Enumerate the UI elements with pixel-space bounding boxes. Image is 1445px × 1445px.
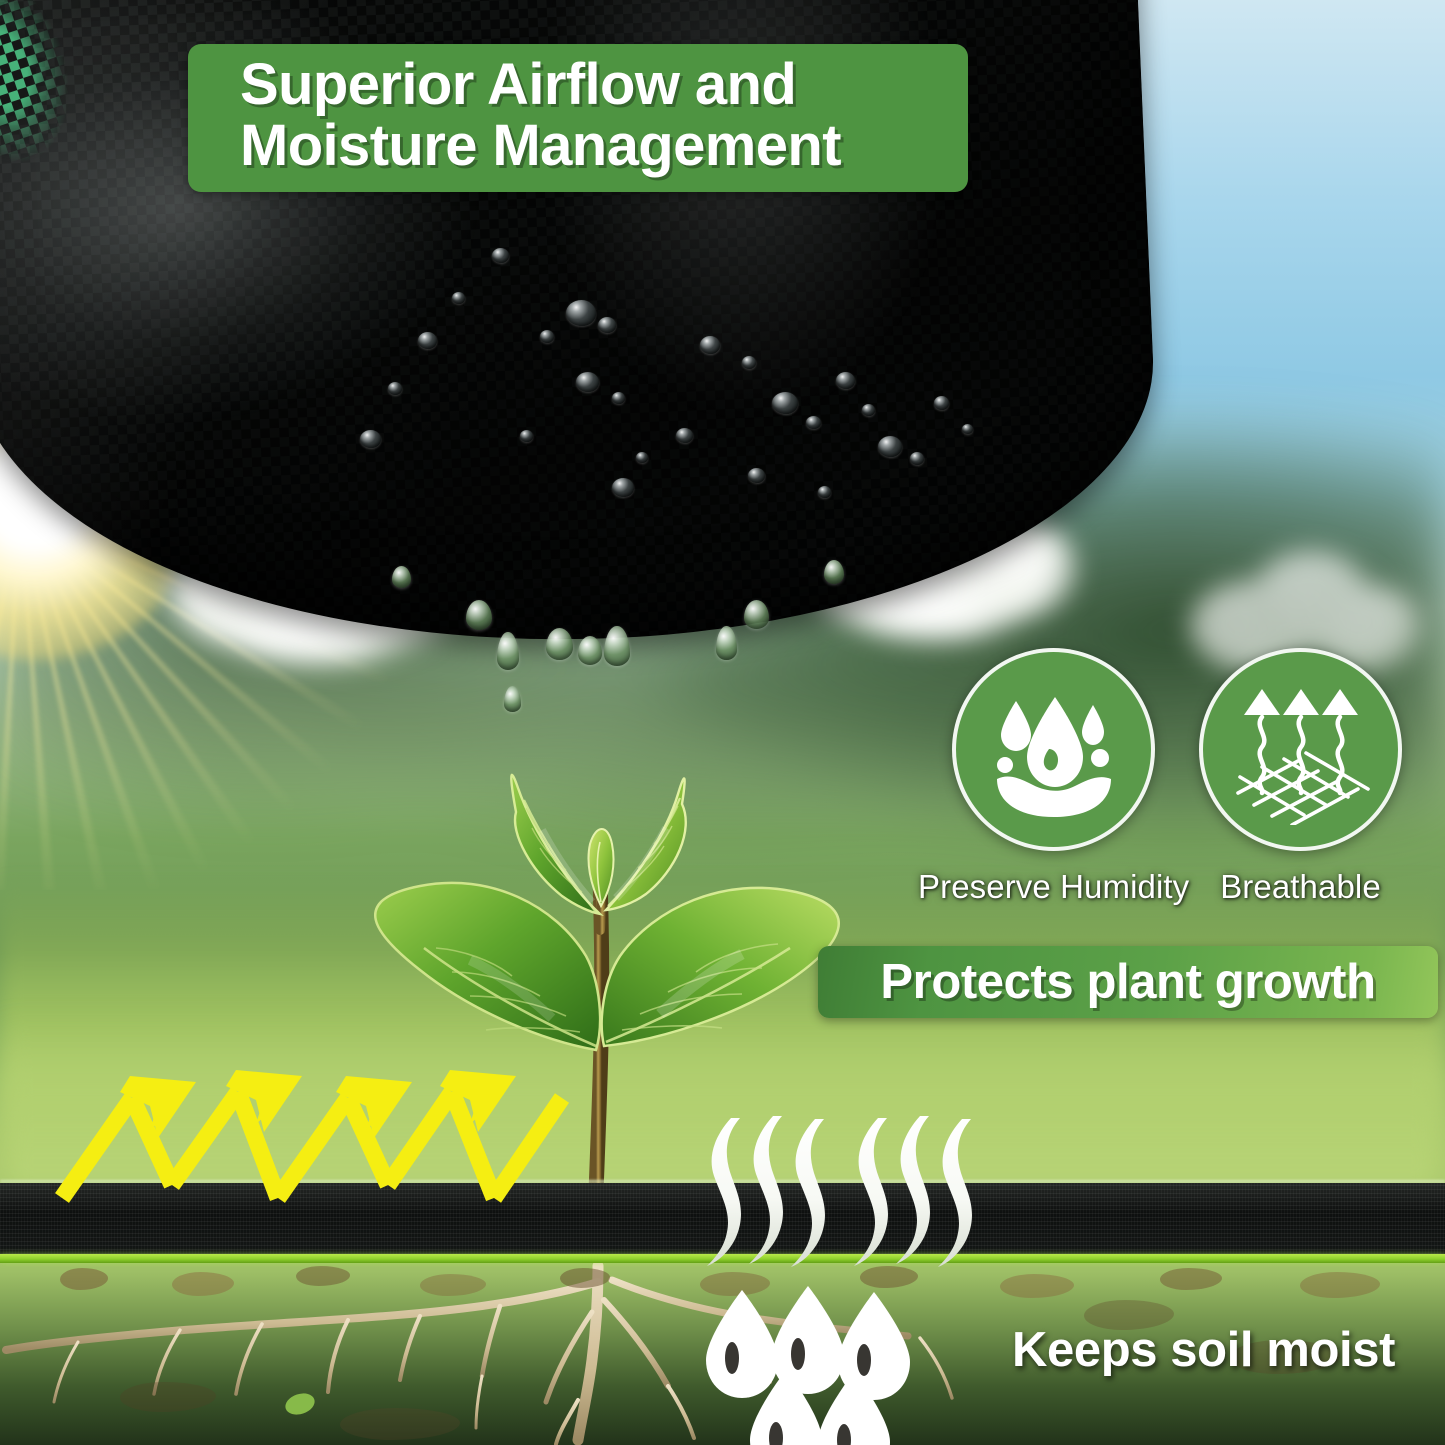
feature-preserve-humidity[interactable]: Preserve Humidity [918,648,1189,906]
feature-label: Breathable [1220,868,1381,906]
droplet-row-top [706,1286,910,1400]
feature-icon-circle [952,648,1155,851]
droplet-icon [706,1290,778,1398]
headline-banner: Superior Airflow and Moisture Management [188,44,968,192]
feature-breathable[interactable]: Breathable [1199,648,1402,906]
product-feature-image: Superior Airflow and Moisture Management… [0,0,1445,1445]
water-droplet-icon [979,675,1129,825]
airflow-arrows-mesh-icon [1226,675,1376,825]
feature-label: Preserve Humidity [918,868,1189,906]
headline-line-2: Moisture Management [240,115,968,176]
feature-icon-circle [1199,648,1402,851]
keeps-soil-moist-text: Keeps soil moist [1012,1322,1395,1378]
headline-line-1: Superior Airflow and [240,54,968,115]
growth-banner-text: Protects plant growth [880,954,1375,1010]
protects-plant-growth-banner: Protects plant growth [818,946,1438,1018]
